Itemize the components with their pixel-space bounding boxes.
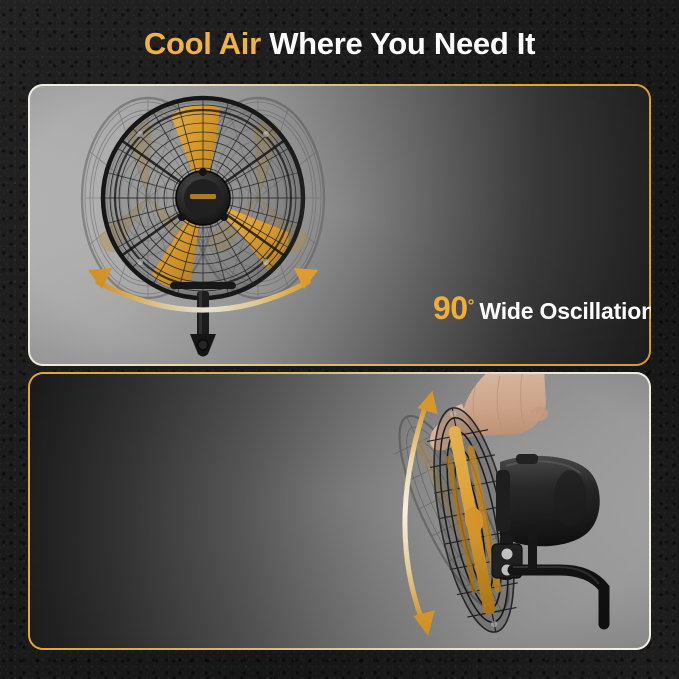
page-title: Cool Air Where You Need It (0, 26, 679, 62)
page-title-highlight: Cool Air (144, 26, 261, 61)
page-title-rest: Where You Need It (269, 26, 535, 61)
motor-housing (496, 454, 600, 546)
hub-logo (190, 194, 216, 199)
feature-panel-tilt: 30° 30°Tilt Angle Flip the fan head manu… (28, 372, 651, 650)
fan-side-illustration (30, 374, 649, 648)
oscillation-caption-number: 90 (433, 290, 468, 326)
oscillation-caption-label: Wide Oscillation (479, 298, 651, 324)
feature-panel-oscillation: 90° 90°Wide Oscillation (28, 84, 651, 366)
oscillation-caption: 90°Wide Oscillation (433, 290, 651, 327)
oscillation-caption-degree: ° (468, 296, 475, 315)
infographic-canvas: Cool Air Where You Need It (0, 0, 679, 679)
panel-tilt-inner (30, 374, 649, 648)
fan-main (101, 96, 305, 300)
